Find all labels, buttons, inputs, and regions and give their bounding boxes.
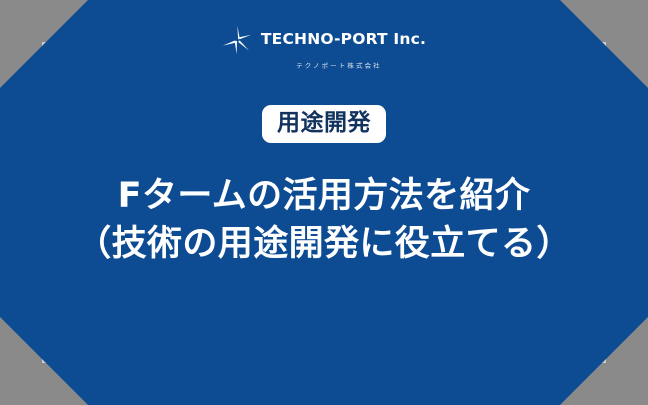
corner-block-top-right <box>606 0 648 42</box>
logo-wordmark: TECHNO-PORT Inc. <box>261 32 426 48</box>
corner-block-bottom-right <box>606 363 648 405</box>
page-title: Fタームの活用方法を紹介 （技術の用途開発に役立てる） <box>76 173 572 269</box>
company-logo: TECHNO-PORT Inc. テクノポート株式会社 <box>222 25 426 70</box>
logo-row: TECHNO-PORT Inc. <box>222 25 426 55</box>
logo-subtitle: テクノポート株式会社 <box>296 60 382 70</box>
article-thumbnail-card: TECHNO-PORT Inc. テクノポート株式会社 用途開発 Fタームの活用… <box>0 0 648 405</box>
page-title-line-1: Fタームの活用方法を紹介 <box>76 173 572 221</box>
blue-octagon-panel: TECHNO-PORT Inc. テクノポート株式会社 用途開発 Fタームの活用… <box>0 0 648 405</box>
category-badge: 用途開発 <box>262 105 386 143</box>
page-title-line-2: （技術の用途開発に役立てる） <box>76 221 572 269</box>
corner-block-top-left <box>0 0 42 42</box>
four-point-star-icon <box>222 25 252 55</box>
corner-block-bottom-left <box>0 363 42 405</box>
